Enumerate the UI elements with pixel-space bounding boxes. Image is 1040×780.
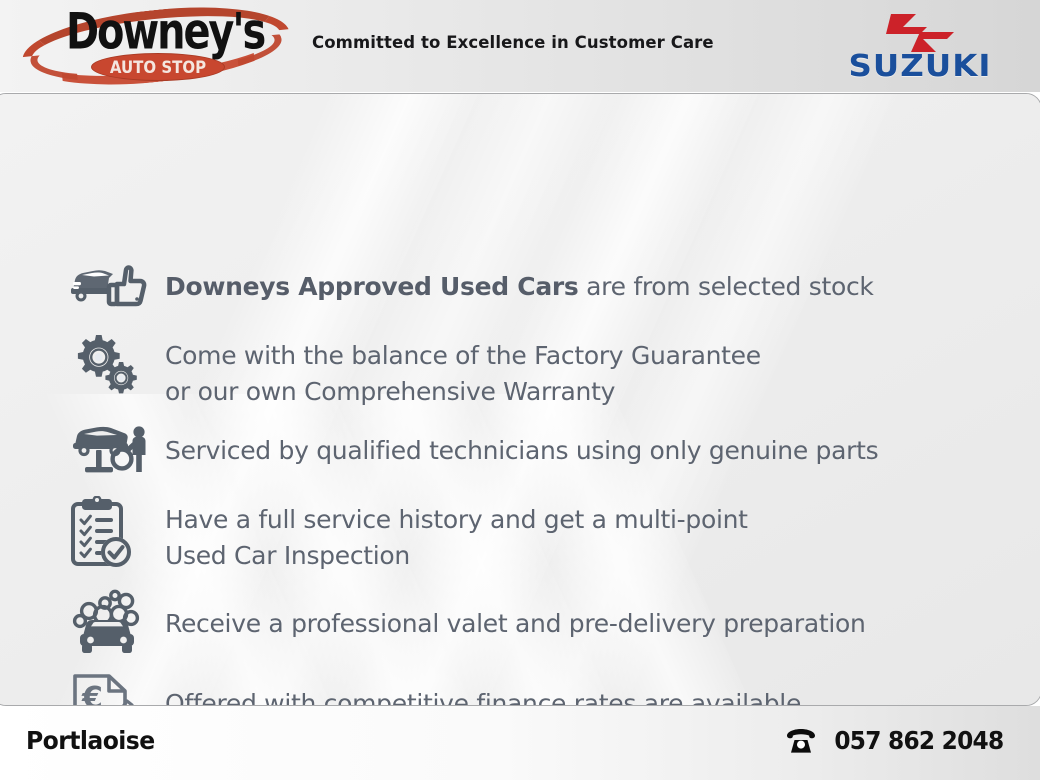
logo-brand-sub: AUTO STOP [92, 57, 224, 78]
footer-bar: Portlaoise 057 862 2048 [0, 706, 1040, 780]
footer-phone-number: 057 862 2048 [835, 726, 1004, 755]
feature-item-4: Have a full service history and get a mu… [69, 496, 748, 573]
feature-text-1: Downeys Approved Used Cars are from sele… [165, 258, 874, 305]
feature-icon-cell-4 [69, 496, 165, 570]
logo-brand-name: Downey's [66, 7, 264, 57]
suzuki-logo[interactable]: SUZUKI [830, 8, 1010, 86]
euro-document-pen-icon: € [69, 672, 135, 706]
feature-item-2: Come with the balance of the Factory Gua… [69, 332, 761, 409]
car-thumbs-up-icon [69, 258, 149, 310]
feature-list: Downeys Approved Used Cars are from sele… [0, 94, 1040, 705]
feature-text-2: Come with the balance of the Factory Gua… [165, 332, 761, 409]
feature-icon-cell-5 [69, 589, 165, 657]
feature-icon-cell-6: € [69, 672, 165, 706]
telephone-icon [786, 727, 816, 755]
svg-text:€: € [81, 681, 103, 706]
footer-location: Portlaoise [26, 726, 155, 755]
clipboard-checklist-check-icon [69, 496, 137, 570]
feature-text-6: Offered with competitive finance rates a… [165, 672, 801, 706]
feature-item-3: Serviced by qualified technicians using … [69, 424, 878, 478]
feature-text-3: Serviced by qualified technicians using … [165, 424, 878, 469]
features-panel: Downeys Approved Used Cars are from sele… [0, 93, 1040, 706]
suzuki-wordmark: SUZUKI [823, 52, 1017, 82]
feature-item-1: Downeys Approved Used Cars are from sele… [69, 258, 874, 310]
feature-text-5: Receive a professional valet and pre-del… [165, 589, 866, 642]
footer-phone-group[interactable]: 057 862 2048 [786, 726, 1010, 755]
feature-icon-cell-2 [69, 332, 165, 398]
gears-icon [69, 332, 141, 398]
feature-icon-cell-1 [69, 258, 165, 310]
feature-text-1-strong: Downeys Approved Used Cars [165, 272, 579, 301]
feature-item-5: Receive a professional valet and pre-del… [69, 589, 866, 657]
feature-text-1-rest: are from selected stock [579, 272, 874, 301]
feature-icon-cell-3 [69, 424, 165, 478]
downeys-logo[interactable]: Downey's AUTO STOP [22, 4, 292, 88]
feature-text-4: Have a full service history and get a mu… [165, 496, 748, 573]
car-on-lift-mechanic-icon [69, 424, 155, 478]
car-wash-bubbles-icon [69, 589, 147, 657]
header-bar: Downey's AUTO STOP Committed to Excellen… [0, 0, 1040, 92]
feature-item-6: € Offered with competitive finance rates… [69, 672, 801, 706]
header-tagline: Committed to Excellence in Customer Care [312, 33, 714, 52]
